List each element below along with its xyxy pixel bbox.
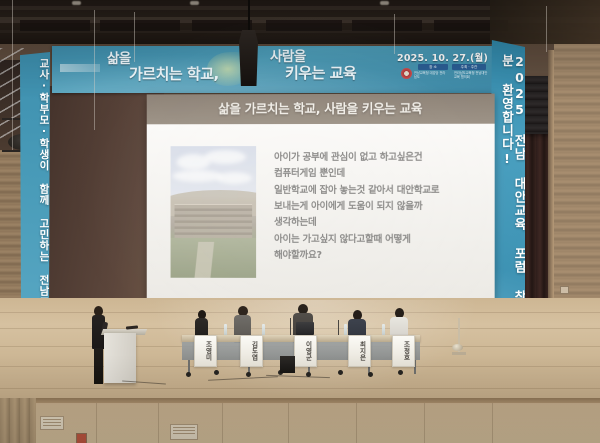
ceiling-light-icon — [380, 1, 389, 5]
floor-lamp-icon — [452, 344, 463, 351]
speaker-mount — [248, 0, 250, 32]
banner-title-line-1: 삶을 — [107, 52, 131, 66]
main-event-banner: 삶을 가르치는 학교, 사람을 키우는 교육 2025. 10. 27.(월) … — [52, 46, 502, 93]
slide-photo-school-building — [171, 146, 257, 278]
ceiling-light-icon — [72, 1, 81, 5]
placard-name: 조정호 — [398, 339, 409, 363]
photo-building — [175, 204, 253, 239]
stand-base — [452, 352, 466, 355]
slide-line: 아이는 가고싶지 않다고할때 어떻게 — [274, 232, 483, 249]
stage-side-wall — [0, 398, 36, 443]
microphone-stand — [290, 318, 291, 336]
name-placard: 조영미 — [194, 335, 217, 367]
microphone-stand — [338, 320, 339, 336]
banner-title-line-2: 가르치는 학교, — [129, 67, 219, 83]
slide-body: 아이가 공부에 관심이 없고 하고싶은건 컴퓨터게임 뿐인데 일반학교에 잡아 … — [147, 124, 495, 303]
placard-name: 조영미 — [200, 339, 211, 363]
slide-title: 삶을 가르치는 학교, 사람을 키우는 교육 — [147, 98, 495, 118]
ceiling-panel — [100, 20, 180, 31]
slide-line: 아이가 공부에 관심이 없고 하고싶은건 — [274, 150, 483, 167]
name-placard: 이영군 — [294, 335, 317, 367]
stage-vent — [170, 424, 198, 440]
ceiling-light-icon — [190, 1, 199, 5]
stage-edge — [0, 398, 600, 403]
banner-title-line-3: 사람을 — [270, 50, 306, 64]
ceiling-panel — [192, 20, 252, 31]
laptop[interactable] — [296, 322, 314, 335]
ceiling-beam-right — [490, 0, 600, 48]
banner-date: 2025. 10. 27.(월) — [397, 50, 488, 64]
ceiling-speaker-icon — [239, 30, 258, 86]
placard-name: 최지은 — [354, 339, 365, 363]
stage-vent — [40, 416, 64, 430]
suspension-wire — [12, 0, 13, 150]
suspension-wire — [94, 10, 95, 130]
equipment-case — [280, 356, 295, 373]
slide-line: 보내는게 아이에게 도움이 되지 않을까 — [274, 199, 483, 215]
event-seal-icon — [401, 68, 412, 79]
wall-outlet — [76, 433, 87, 443]
slide-line: 일반학교에 잡아 놓는것 같아서 대안학교로 — [274, 183, 483, 199]
suspension-wire — [546, 6, 547, 52]
placard-name: 김도엽 — [246, 339, 257, 363]
banner-chip-venue-body: 전남교육청 대강당 전라남도 — [414, 71, 448, 79]
auditorium-scene: 삶을 가르치는 학교, 사람을 키우는 교육 2025. 10. 27.(월) … — [0, 0, 600, 443]
name-placard: 김도엽 — [240, 335, 263, 367]
slide-line: 해야할까요? — [274, 248, 483, 265]
banner-chip-host-body: 전라남도교육청 전남대안교육 협의회 — [454, 71, 488, 79]
slide-body-text: 아이가 공부에 관심이 없고 하고싶은건 컴퓨터게임 뿐인데 일반학교에 잡아 … — [274, 150, 483, 265]
suspension-wire — [134, 12, 135, 62]
light-switch[interactable] — [560, 286, 569, 294]
banner-chip-host: 주최 · 주관 — [452, 64, 486, 70]
name-placard: 조정호 — [392, 335, 415, 367]
projection-slide: 삶을 가르치는 학교, 사람을 키우는 교육 아이가 공부에 관심이 없고 하고… — [147, 94, 495, 303]
banner-title-line-4: 키우는 교육 — [285, 66, 356, 82]
placard-name: 이영군 — [300, 339, 311, 363]
stage-front-facade — [0, 398, 600, 443]
banner-chip-venue: 장 소 — [418, 64, 448, 70]
slide-line: 컴퓨터게임 뿐인데 — [274, 166, 483, 182]
suspension-wire — [394, 14, 395, 54]
podium — [104, 333, 136, 383]
ceiling — [0, 0, 600, 48]
ceiling-panel — [20, 20, 90, 31]
slide-line: 생각하는데 — [274, 215, 483, 231]
ceiling-panel — [266, 20, 342, 31]
ceiling-panel — [352, 20, 422, 31]
name-placard: 최지은 — [348, 335, 371, 367]
